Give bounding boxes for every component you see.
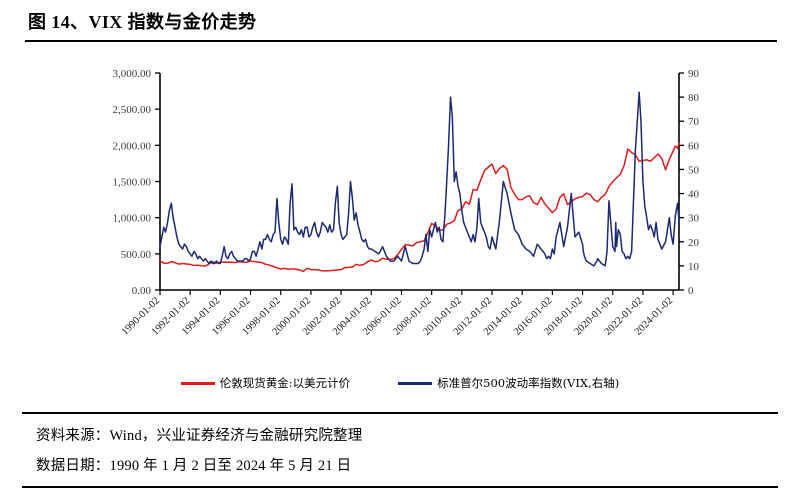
y-left-tick-label: 500.00 (121, 249, 152, 261)
chart-svg: 0.00500.001,000.001,500.002,000.002,500.… (0, 48, 800, 366)
source-note: 资料来源：Wind，兴业证券经济与金融研究院整理 (36, 424, 362, 445)
legend-swatch-vix (398, 382, 432, 385)
x-axis-labels: 1990-01-021992-01-021994-01-021996-01-02… (120, 295, 676, 337)
figure-footer: 资料来源：Wind，兴业证券经济与金融研究院整理 数据日期：1990 年 1 月… (0, 406, 800, 492)
legend-swatch-gold (181, 382, 215, 385)
y-right-tick-label: 50 (688, 164, 700, 176)
y-left-tick-label: 1,000.00 (113, 213, 152, 225)
legend-label-gold: 伦敦现货黄金:以美元计价 (220, 375, 350, 391)
axis-lines (160, 73, 679, 290)
y-left-tick-label: 3,000.00 (113, 68, 152, 80)
chart-legend: 伦敦现货黄金:以美元计价 标准普尔500波动率指数(VIX,右轴) (0, 372, 800, 394)
y-right-tick-label: 0 (688, 285, 694, 297)
figure-page: 图 14、VIX 指数与金价走势 0.00500.001,000.001,500… (0, 0, 800, 492)
figure-header: 图 14、VIX 指数与金价走势 (0, 0, 800, 46)
y-right-tick-label: 40 (688, 189, 700, 201)
y-axis-left-labels: 0.00500.001,000.001,500.002,000.002,500.… (113, 68, 152, 297)
date-range-note: 数据日期：1990 年 1 月 2 日至 2024 年 5 月 21 日 (36, 454, 351, 475)
legend-item-vix[interactable]: 标准普尔500波动率指数(VIX,右轴) (398, 375, 619, 391)
legend-item-gold[interactable]: 伦敦现货黄金:以美元计价 (181, 375, 350, 391)
y-left-tick-label: 2,500.00 (113, 104, 152, 116)
y-right-tick-label: 20 (688, 237, 700, 249)
y-right-tick-label: 30 (688, 213, 700, 225)
series-lines (160, 92, 679, 271)
y-right-tick-label: 80 (688, 92, 700, 104)
series-line-vix (160, 92, 679, 266)
legend-label-vix: 标准普尔500波动率指数(VIX,右轴) (437, 375, 619, 391)
chart-container: 0.00500.001,000.001,500.002,000.002,500.… (0, 48, 800, 366)
page-title: 图 14、VIX 指数与金价走势 (28, 8, 256, 34)
footer-divider-bottom (22, 486, 778, 488)
y-left-tick-label: 2,000.00 (113, 140, 152, 152)
y-right-tick-label: 90 (688, 68, 700, 80)
y-left-tick-label: 1,500.00 (113, 177, 152, 189)
header-divider (25, 40, 777, 42)
y-right-tick-label: 70 (688, 116, 700, 128)
y-right-tick-label: 10 (688, 261, 700, 273)
y-left-tick-label: 0.00 (132, 285, 152, 297)
footer-divider-top (22, 412, 778, 414)
y-axis-right-labels: 0102030405060708090 (688, 68, 700, 297)
y-right-tick-label: 60 (688, 140, 700, 152)
series-line-gold (160, 143, 679, 271)
